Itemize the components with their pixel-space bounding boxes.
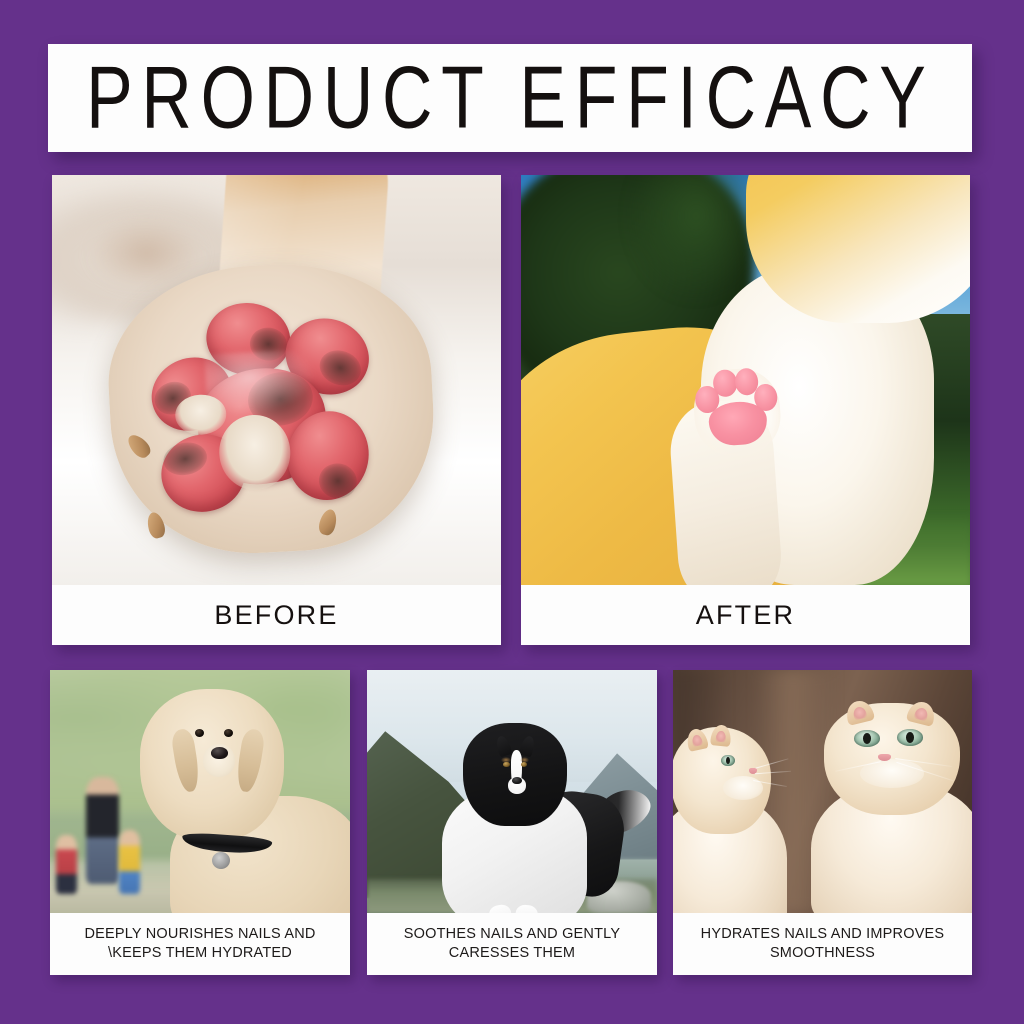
collie-front-paw-right <box>513 904 538 913</box>
after-label: AFTER <box>521 585 970 645</box>
blurred-person-child <box>119 830 140 893</box>
tree-foliage-accent <box>629 175 764 298</box>
cat-left <box>673 709 787 913</box>
border-collie-running-photo <box>367 670 657 913</box>
poodle-ear-left <box>170 727 201 793</box>
before-after-row: BEFORE <box>52 175 972 645</box>
collie-nose <box>512 777 522 784</box>
cat-right <box>811 689 972 913</box>
cat-ear-inner <box>852 706 867 720</box>
cat-ear-inner <box>914 707 929 721</box>
blurred-person-adult <box>86 777 119 884</box>
collie-eye-left <box>503 762 509 767</box>
cat-ear-right <box>906 699 938 727</box>
collie-ear-right <box>519 734 537 757</box>
healthy-corgi-paw-photo <box>521 175 970 585</box>
collie-ear-left <box>494 734 512 757</box>
cat-pupil <box>906 732 914 743</box>
cat-head <box>673 727 771 834</box>
cat-chin <box>723 776 763 800</box>
two-cream-cats-photo <box>673 670 972 913</box>
cream-poodle-in-park-photo <box>50 670 350 913</box>
before-card: BEFORE <box>52 175 501 645</box>
cat-pupil <box>863 733 871 744</box>
after-card: AFTER <box>521 175 970 645</box>
cat-whisker <box>755 771 791 775</box>
cat-ear-inner <box>691 734 703 747</box>
before-label: BEFORE <box>52 585 501 645</box>
cat-pupil <box>726 757 730 765</box>
cat-ear-inner <box>715 730 726 742</box>
collie-eye-right <box>521 762 527 767</box>
benefit-card-1: DEEPLY NOURISHES NAILS AND \KEEPS THEM H… <box>50 670 350 975</box>
paw-claw <box>125 431 154 461</box>
cat-eye-right <box>897 729 923 746</box>
poodle-eye-right <box>224 729 233 737</box>
collie-head <box>463 723 567 825</box>
cat-ear-left <box>685 727 709 752</box>
benefits-row: DEEPLY NOURISHES NAILS AND \KEEPS THEM H… <box>50 670 972 975</box>
cat-head <box>824 703 959 815</box>
benefit-card-2: SOOTHES NAILS AND GENTLY CARESSES THEM <box>367 670 657 975</box>
paw-claw <box>146 511 168 540</box>
poodle-eye-left <box>195 729 204 737</box>
paw-claw <box>317 508 339 537</box>
blurred-background-accent <box>88 216 205 290</box>
title-band: PRODUCT EFFICACY <box>48 44 972 152</box>
cat-ear-left <box>844 698 876 726</box>
product-efficacy-poster: PRODUCT EFFICACY <box>0 0 1024 1024</box>
cat-ear-right <box>710 724 732 747</box>
benefit-caption-1: DEEPLY NOURISHES NAILS AND \KEEPS THEM H… <box>50 913 350 975</box>
dog-paw <box>103 257 441 561</box>
poodle-ear-right <box>235 727 266 793</box>
paw-highlight <box>204 349 317 418</box>
blurred-person-child <box>56 835 77 893</box>
healthy-paw <box>689 361 785 457</box>
poodle-nose <box>211 747 228 759</box>
collie-front-paw-left <box>488 903 514 913</box>
cat-eye-left <box>854 730 880 747</box>
page-title: PRODUCT EFFICACY <box>86 54 934 142</box>
benefit-caption-2: SOOTHES NAILS AND GENTLY CARESSES THEM <box>367 913 657 975</box>
irritated-dog-paw-photo <box>52 175 501 585</box>
cat-eye <box>721 755 735 767</box>
benefit-caption-3: HYDRATES NAILS AND IMPROVES SMOOTHNESS <box>673 913 972 975</box>
cat-whisker <box>755 759 788 769</box>
poodle-head <box>140 689 284 840</box>
benefit-card-3: HYDRATES NAILS AND IMPROVES SMOOTHNESS <box>673 670 972 975</box>
